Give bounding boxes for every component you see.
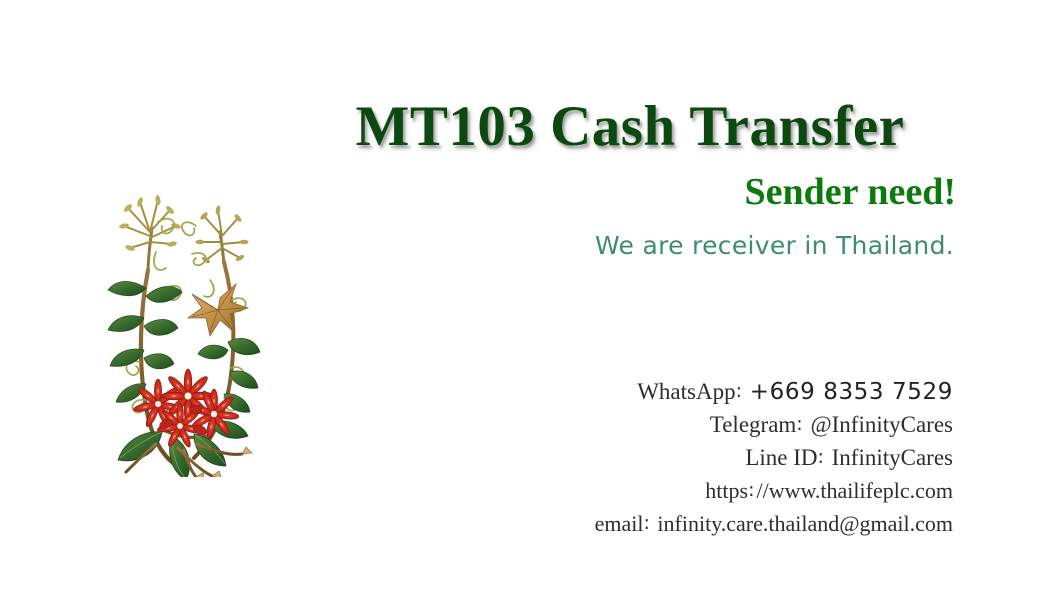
contact-row-line-id: Line ID: InfinityCares: [450, 442, 953, 475]
tagline-text: We are receiver in Thailand.: [300, 230, 960, 262]
contact-value-email[interactable]: infinity.care.thailand@gmail.com: [657, 511, 953, 536]
headline-block: MT103 Cash Transfer Sender need! We are …: [300, 96, 960, 262]
contact-row-website[interactable]: https://www.thailifeplc.com: [450, 475, 953, 508]
contact-value-line-id[interactable]: InfinityCares: [832, 445, 953, 470]
page-subtitle: Sender need!: [300, 169, 960, 215]
contact-row-telegram: Telegram: @InfinityCares: [450, 409, 953, 442]
contact-separator: :: [817, 446, 825, 468]
page-title: MT103 Cash Transfer: [300, 96, 960, 158]
contact-label-whatsapp: WhatsApp: [637, 379, 735, 404]
contact-details-block: WhatsApp: +669 8353 7529 Telegram: @Infi…: [450, 376, 953, 541]
contact-value-telegram[interactable]: @InfinityCares: [810, 412, 953, 437]
floral-wreath-illustration: [100, 192, 270, 477]
contact-value-whatsapp[interactable]: +669 8353 7529: [750, 379, 953, 405]
contact-separator: :: [748, 479, 756, 501]
dried-star-leaf: [188, 284, 248, 336]
contact-label-telegram: Telegram: [710, 412, 797, 437]
contact-label-email: email: [595, 511, 644, 536]
contact-row-whatsapp: WhatsApp: +669 8353 7529: [450, 376, 953, 409]
contact-separator: :: [736, 380, 744, 402]
contact-value-website[interactable]: //www.thailifeplc.com: [756, 478, 953, 503]
contact-label-line-id: Line ID: [745, 445, 817, 470]
contact-row-email: email: infinity.care.thailand@gmail.com: [450, 508, 953, 541]
poster-canvas: MT103 Cash Transfer Sender need! We are …: [0, 0, 1063, 600]
contact-separator: :: [796, 413, 804, 435]
contact-separator: :: [644, 512, 652, 534]
contact-label-website: https: [705, 478, 748, 503]
